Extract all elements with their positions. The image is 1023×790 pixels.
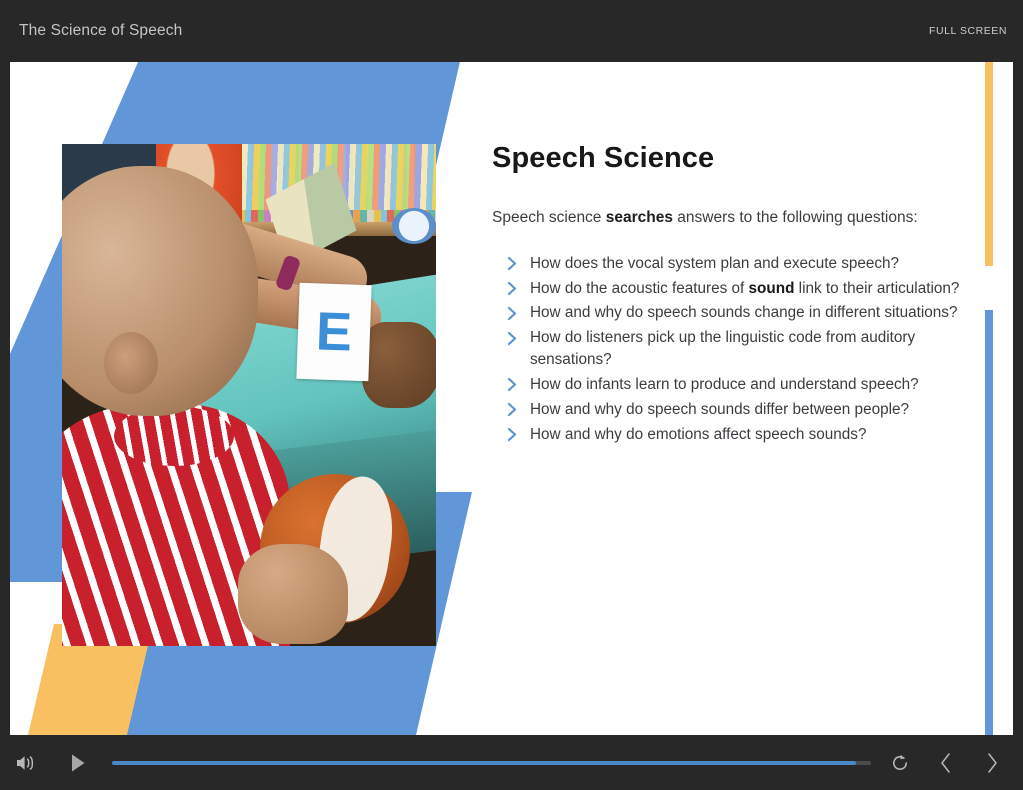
question-text: How and why do emotions affect speech so… [530, 426, 866, 443]
question-text: How does the vocal system plan and execu… [530, 255, 899, 272]
question-item: How does the vocal system plan and execu… [492, 253, 962, 275]
question-list: How does the vocal system plan and execu… [492, 253, 962, 446]
slide-photo: E [62, 144, 436, 646]
flashcard-letter: E [315, 304, 353, 359]
photo-child-hand [238, 544, 348, 644]
question-item: How and why do speech sounds differ betw… [492, 399, 962, 421]
question-item: How and why do speech sounds change in d… [492, 302, 962, 324]
chevron-right-icon [505, 280, 519, 298]
previous-slide-icon[interactable] [933, 750, 959, 776]
course-title: The Science of Speech [19, 22, 182, 40]
chevron-right-icon [505, 401, 519, 419]
subtitle-emphasis: searches [606, 209, 673, 226]
fullscreen-button[interactable]: FULL SCREEN [929, 25, 1007, 37]
question-text: How do infants learn to produce and unde… [530, 376, 919, 393]
slide-text-column: Speech Science Speech science searches a… [492, 142, 962, 449]
chevron-right-icon [505, 329, 519, 347]
question-item: How do the acoustic features of sound li… [492, 278, 962, 300]
player-controls-bar [0, 735, 1023, 790]
photo-adult-hand [362, 322, 436, 408]
decorative-yellow-bar-right [985, 62, 993, 266]
photo-badge [392, 208, 436, 244]
question-text: How and why do speech sounds change in d… [530, 304, 957, 321]
photo-flashcard: E [296, 283, 371, 381]
chevron-right-icon [505, 376, 519, 394]
player-header: The Science of Speech FULL SCREEN [0, 0, 1023, 62]
slide-title: Speech Science [492, 142, 962, 175]
subtitle-part-1: Speech science [492, 209, 606, 226]
play-icon[interactable] [66, 750, 90, 776]
question-item: How and why do emotions affect speech so… [492, 424, 962, 446]
chevron-right-icon [505, 304, 519, 322]
decorative-blue-bar-right [985, 310, 993, 735]
question-text: How and why do speech sounds differ betw… [530, 401, 909, 418]
question-text: How do listeners pick up the linguistic … [530, 329, 915, 368]
progress-bar[interactable] [112, 756, 871, 770]
subtitle-part-2: answers to the following questions: [673, 209, 918, 226]
next-slide-icon[interactable] [979, 750, 1005, 776]
photo-child-head [62, 166, 258, 416]
photo-child-ear [104, 332, 158, 394]
question-item: How do infants learn to produce and unde… [492, 374, 962, 396]
slide-subtitle: Speech science searches answers to the f… [492, 207, 962, 229]
progress-track[interactable] [112, 761, 871, 765]
question-item: How do listeners pick up the linguistic … [492, 327, 962, 371]
question-emphasis: sound [749, 280, 795, 297]
progress-fill [112, 761, 856, 765]
volume-icon[interactable] [12, 749, 40, 777]
slide-canvas: E Speech Science Speech science searches… [10, 62, 1013, 735]
replay-icon[interactable] [887, 750, 913, 776]
chevron-right-icon [505, 255, 519, 273]
question-text-part-2: link to their articulation? [794, 280, 959, 297]
question-text-part-1: How do the acoustic features of [530, 280, 749, 297]
chevron-right-icon [505, 426, 519, 444]
